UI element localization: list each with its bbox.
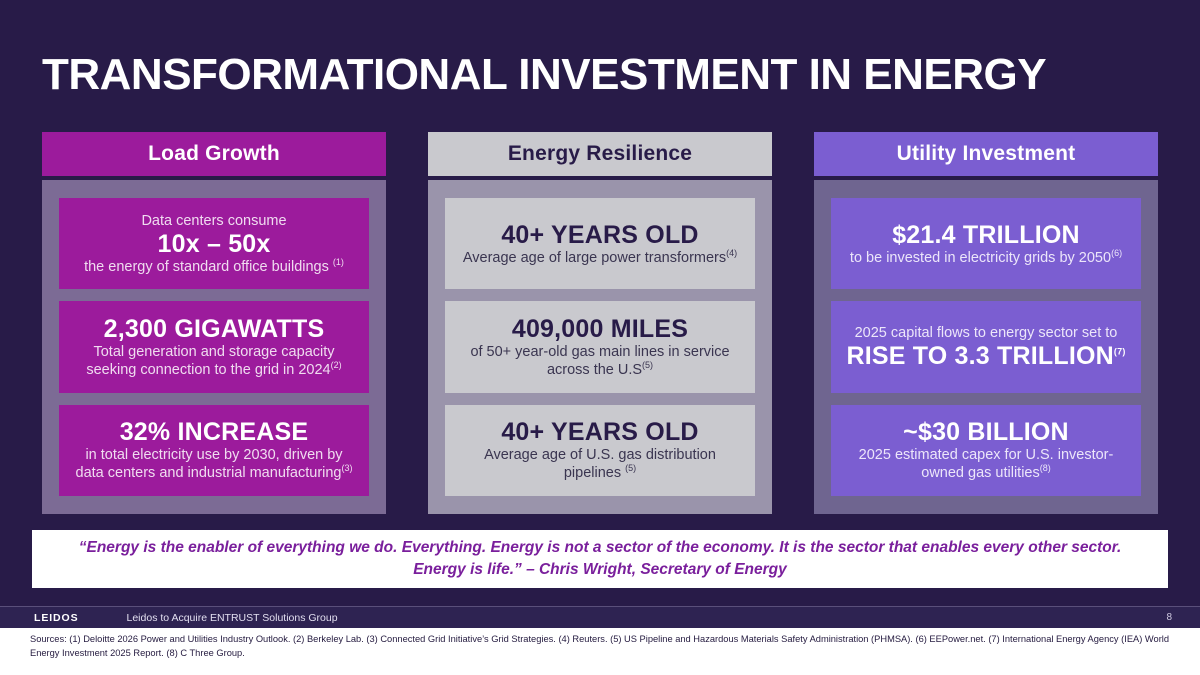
footnote-marker: (3)	[342, 463, 353, 473]
stat-card: Data centers consume 10x – 50x the energ…	[59, 198, 369, 289]
stat-post-text: Average age of U.S. gas distribution pip…	[457, 446, 743, 482]
stat-post-text: 2025 estimated capex for U.S. investor-o…	[843, 446, 1129, 482]
stat-headline: 2,300 GIGAWATTS	[104, 315, 325, 343]
column-header-load-growth: Load Growth	[42, 132, 386, 176]
stat-post-text: of 50+ year-old gas main lines in servic…	[457, 343, 743, 379]
slide-root: TRANSFORMATIONAL INVESTMENT IN ENERGY Lo…	[0, 0, 1200, 675]
footnote-marker: (2)	[331, 360, 342, 370]
page-title: TRANSFORMATIONAL INVESTMENT IN ENERGY	[42, 50, 1046, 100]
stat-post-text: to be invested in electricity grids by 2…	[850, 249, 1122, 267]
stat-card: 409,000 MILES of 50+ year-old gas main l…	[445, 301, 755, 392]
quote-text: “Energy is the enabler of everything we …	[58, 537, 1142, 580]
page-number: 8	[1166, 612, 1172, 623]
stat-card: $21.4 TRILLION to be invested in electri…	[831, 198, 1141, 289]
column-energy-resilience: Energy Resilience 40+ YEARS OLD Average …	[428, 132, 772, 514]
footer-deck-title: Leidos to Acquire ENTRUST Solutions Grou…	[127, 612, 338, 624]
column-header-energy-resilience: Energy Resilience	[428, 132, 772, 176]
stat-card: 40+ YEARS OLD Average age of U.S. gas di…	[445, 405, 755, 496]
stat-headline: 409,000 MILES	[512, 315, 688, 343]
sources-text: Sources: (1) Deloitte 2026 Power and Uti…	[30, 633, 1175, 661]
stat-post-text: Average age of large power transformers(…	[463, 249, 737, 267]
columns-container: Load Growth Data centers consume 10x – 5…	[42, 132, 1158, 514]
footnote-marker: (7)	[1114, 347, 1126, 357]
quote-banner: “Energy is the enabler of everything we …	[32, 530, 1168, 588]
stat-headline: RISE TO 3.3 TRILLION(7)	[846, 342, 1125, 370]
column-body-utility-investment: $21.4 TRILLION to be invested in electri…	[814, 180, 1158, 514]
stat-pre-text: Data centers consume	[141, 212, 286, 230]
stat-headline: 40+ YEARS OLD	[501, 418, 698, 446]
column-body-energy-resilience: 40+ YEARS OLD Average age of large power…	[428, 180, 772, 514]
stat-headline: 40+ YEARS OLD	[501, 221, 698, 249]
stat-headline: 32% INCREASE	[120, 418, 309, 446]
footnote-marker: (6)	[1111, 248, 1122, 258]
stat-card: 2,300 GIGAWATTS Total generation and sto…	[59, 301, 369, 392]
leidos-logo: LEIDOS	[34, 612, 79, 624]
footnote-marker: (1)	[333, 257, 344, 267]
column-utility-investment: Utility Investment $21.4 TRILLION to be …	[814, 132, 1158, 514]
stat-card: 32% INCREASE in total electricity use by…	[59, 405, 369, 496]
footnote-marker: (5)	[642, 360, 653, 370]
footnote-marker: (4)	[726, 248, 737, 258]
stat-card: 40+ YEARS OLD Average age of large power…	[445, 198, 755, 289]
stat-card: ~$30 BILLION 2025 estimated capex for U.…	[831, 405, 1141, 496]
stat-post-text: the energy of standard office buildings …	[84, 258, 344, 276]
stat-pre-text: 2025 capital flows to energy sector set …	[855, 324, 1118, 342]
stat-headline: 10x – 50x	[157, 230, 270, 258]
footer-bar: LEIDOS Leidos to Acquire ENTRUST Solutio…	[0, 606, 1200, 628]
stat-card: 2025 capital flows to energy sector set …	[831, 301, 1141, 392]
footnote-marker: (8)	[1040, 463, 1051, 473]
stat-headline: $21.4 TRILLION	[892, 221, 1080, 249]
footnote-marker: (5)	[625, 463, 636, 473]
stat-post-text: in total electricity use by 2030, driven…	[71, 446, 357, 482]
stat-post-text: Total generation and storage capacity se…	[71, 343, 357, 379]
stat-headline: ~$30 BILLION	[903, 418, 1069, 446]
column-load-growth: Load Growth Data centers consume 10x – 5…	[42, 132, 386, 514]
column-header-utility-investment: Utility Investment	[814, 132, 1158, 176]
column-body-load-growth: Data centers consume 10x – 50x the energ…	[42, 180, 386, 514]
